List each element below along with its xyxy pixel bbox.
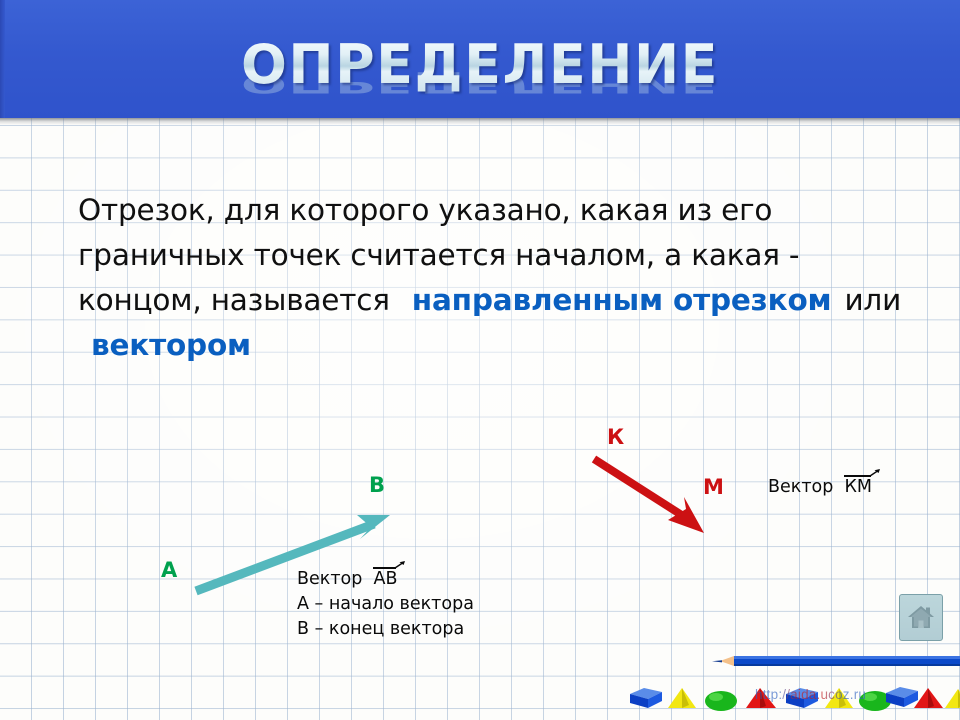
caption-vector-ab-line3: B – конец вектора xyxy=(297,617,474,642)
vector-arrow-tip-icon xyxy=(395,561,406,570)
vector-km-arrow xyxy=(594,459,704,533)
point-label-m: М xyxy=(703,477,724,498)
vector-km-name: КМ xyxy=(845,474,873,500)
watermark-url: http://aida.ucoz.ru xyxy=(755,687,866,702)
blue-pencil-decoration xyxy=(712,655,960,668)
point-label-b: B xyxy=(369,475,385,496)
vector-diagram xyxy=(0,0,960,720)
caption-vector-ab: Вектор AB A – начало вектора B – конец в… xyxy=(297,566,474,642)
caption-vector-ab-line2: A – начало вектора xyxy=(297,592,474,617)
home-button[interactable] xyxy=(899,594,943,641)
shape-cube-3 xyxy=(886,687,918,707)
caption-vector-ab-line1: Вектор AB xyxy=(297,566,474,592)
caption-vector-km: Вектор КМ xyxy=(768,474,872,500)
shape-sphere-highlight xyxy=(709,693,723,701)
point-label-k: К xyxy=(607,427,624,448)
point-label-a: A xyxy=(161,560,177,581)
shape-cube xyxy=(630,688,662,708)
shape-cone xyxy=(668,688,696,708)
vector-overline xyxy=(373,567,397,569)
vector-km-letters: КМ xyxy=(845,477,873,497)
shape-cone-3 xyxy=(945,689,960,708)
caption-km-prefix: Вектор xyxy=(768,477,833,497)
caption-ab-prefix: Вектор xyxy=(297,569,362,589)
vector-arrow-tip-icon-km xyxy=(870,469,881,478)
shape-sphere xyxy=(705,691,737,711)
slide-canvas: ОПРЕДЕЛЕНИЕ ОПРЕДЕЛЕНИЕ Отрезок, для кот… xyxy=(0,0,960,720)
vector-ab-name: AB xyxy=(374,566,398,592)
vector-overline-km xyxy=(844,475,872,477)
vector-ab-letters: AB xyxy=(374,569,398,589)
shape-pyramid-2 xyxy=(914,688,943,708)
home-icon xyxy=(906,604,936,631)
